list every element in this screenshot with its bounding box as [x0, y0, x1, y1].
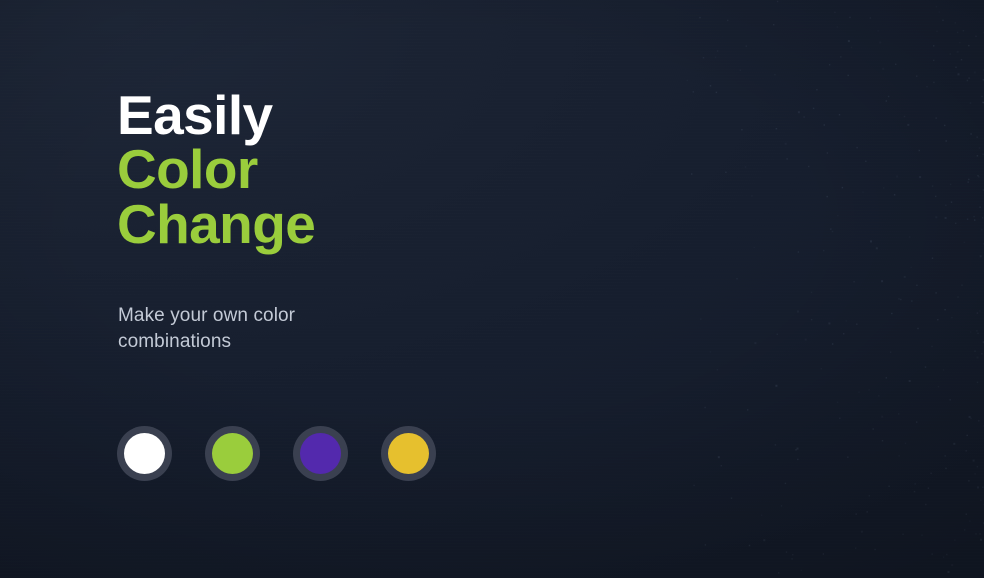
- color-swatch-core-white: [124, 433, 165, 474]
- color-swatch-yellow[interactable]: [381, 426, 436, 481]
- headline-line-1: Easily: [117, 88, 315, 142]
- headline-line-2: Color: [117, 142, 315, 196]
- color-swatch-core-purple: [300, 433, 341, 474]
- hero-content: EasilyColorChange Make your own color co…: [117, 0, 637, 578]
- hero-subtitle: Make your own color combinations: [118, 303, 348, 355]
- color-swatch-core-yellow: [388, 433, 429, 474]
- color-swatch-purple[interactable]: [293, 426, 348, 481]
- color-swatch-row: [117, 426, 436, 481]
- headline-line-3: Change: [117, 197, 315, 251]
- hero-headline: EasilyColorChange: [117, 88, 315, 251]
- color-swatch-green[interactable]: [205, 426, 260, 481]
- color-swatch-core-green: [212, 433, 253, 474]
- color-swatch-white[interactable]: [117, 426, 172, 481]
- hero-slide: EasilyColorChange Make your own color co…: [0, 0, 984, 578]
